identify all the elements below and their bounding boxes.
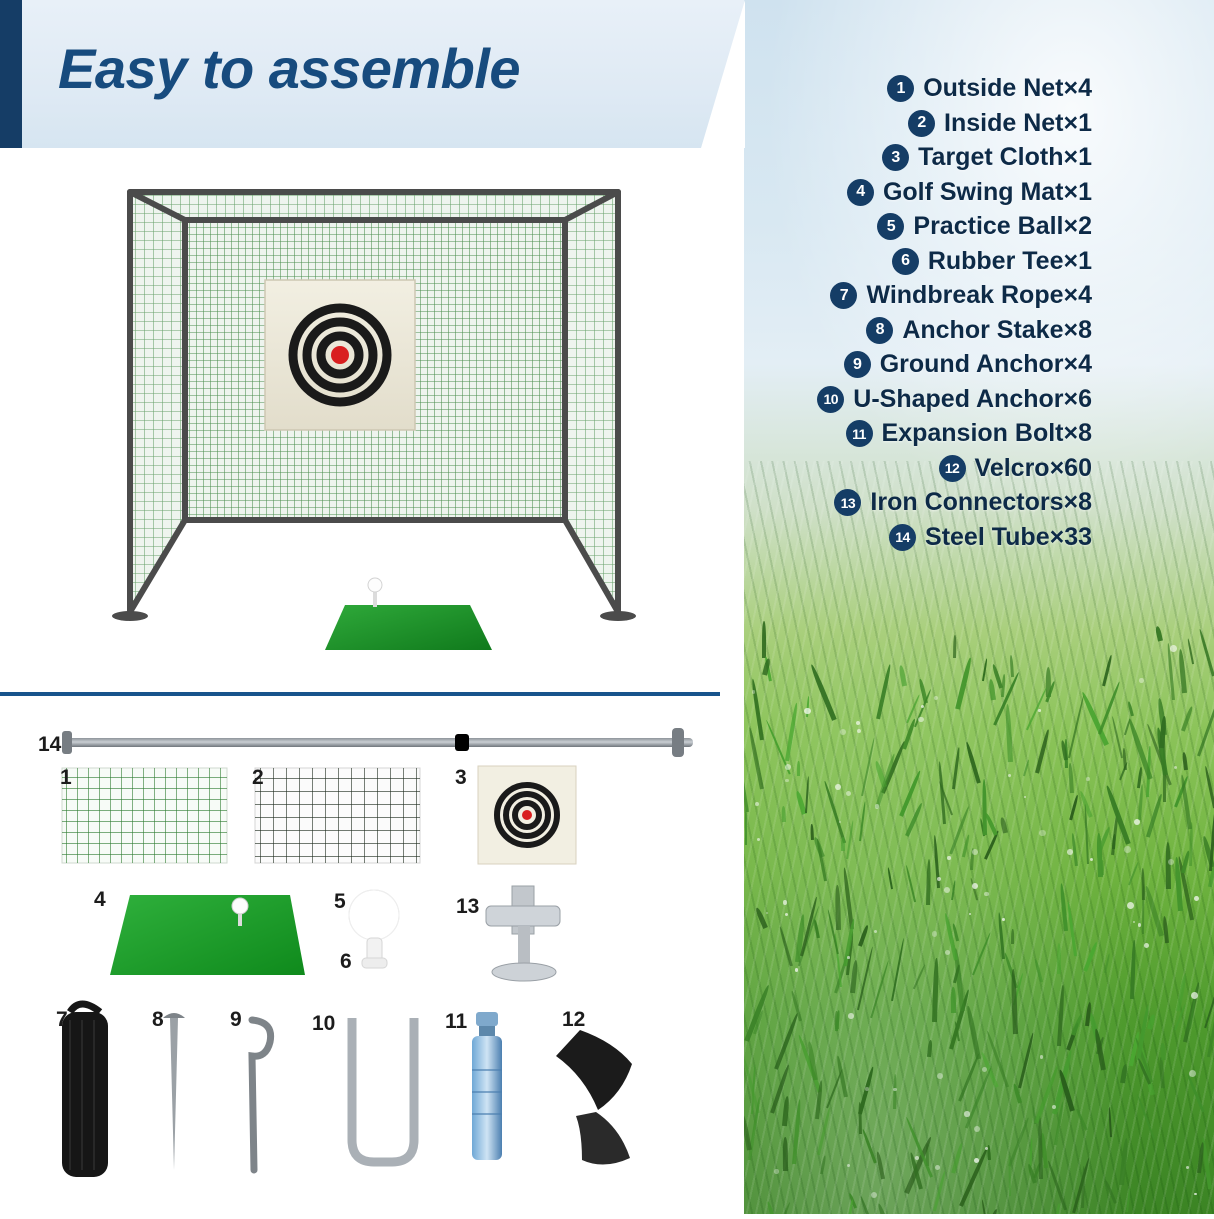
part-outside-net	[62, 768, 227, 863]
part-u-shaped-anchor	[352, 1018, 414, 1162]
dew-drop	[1134, 819, 1140, 825]
dew-drop	[969, 913, 971, 915]
legend-number-badge: 5	[877, 213, 904, 240]
legend-item: 4Golf Swing Mat×1	[742, 178, 1092, 207]
dew-drop	[875, 804, 879, 808]
grass-blade	[951, 987, 956, 1013]
cage-illustration	[0, 150, 744, 690]
legend-item: 7Windbreak Rope×4	[742, 281, 1092, 310]
legend-item-label: U-Shaped Anchor×6	[853, 385, 1092, 414]
dew-drop	[847, 1164, 850, 1167]
part-practice-ball	[349, 890, 399, 940]
legend-item: 11Expansion Bolt×8	[742, 419, 1092, 448]
legend-item: 2Inside Net×1	[742, 109, 1092, 138]
legend-number-badge: 1	[887, 75, 914, 102]
label-iron-connector: 13	[456, 895, 479, 919]
legend-item-label: Windbreak Rope×4	[866, 281, 1092, 310]
legend-item: 8Anchor Stake×8	[742, 316, 1092, 345]
label-practice-ball: 5	[334, 890, 346, 914]
grass-blade	[953, 635, 956, 658]
dew-drop	[835, 784, 841, 790]
parts-grid: 14 1 2 3 4 5 6 13 7 8 9 10 11 12	[0, 700, 744, 1214]
dew-drop	[795, 968, 798, 971]
grass-blade	[797, 761, 800, 776]
left-panel: Easy to assemble	[0, 0, 744, 1214]
part-windbreak-rope	[62, 1004, 108, 1177]
legend-item: 13Iron Connectors×8	[742, 488, 1092, 517]
legend-item-label: Target Cloth×1	[918, 143, 1092, 172]
dew-drop	[1144, 943, 1149, 948]
part-steel-tube	[62, 728, 693, 757]
part-target-cloth	[478, 766, 576, 864]
grass-blade	[810, 824, 813, 841]
part-ground-anchor	[252, 1020, 271, 1170]
dew-drop	[984, 892, 988, 896]
target-rings	[293, 308, 387, 402]
legend-number-badge: 3	[882, 144, 909, 171]
parts-legend-list: 1Outside Net×42Inside Net×13 Target Clot…	[742, 74, 1092, 557]
dew-drop	[1038, 709, 1040, 711]
dew-drop	[757, 838, 760, 841]
label-outside-net: 1	[60, 766, 72, 790]
legend-item: 6Rubber Tee×1	[742, 247, 1092, 276]
label-windbreak-rope: 7	[56, 1008, 68, 1032]
part-anchor-stake	[163, 1013, 185, 1170]
legend-item: 10 U-Shaped Anchor×6	[742, 385, 1092, 414]
label-inside-net: 2	[252, 766, 264, 790]
label-ground-anchor: 9	[230, 1008, 242, 1032]
dew-drop	[752, 690, 755, 693]
dew-drop	[1189, 1070, 1196, 1077]
legend-number-badge: 7	[830, 282, 857, 309]
dew-drop	[865, 1087, 868, 1090]
page-root: Easy to assemble	[0, 0, 1214, 1214]
dew-drop	[918, 717, 923, 722]
legend-item-label: Iron Connectors×8	[870, 488, 1092, 517]
dew-drop	[1186, 1166, 1189, 1169]
accent-bar	[0, 0, 22, 148]
dew-drop	[944, 887, 950, 893]
legend-item-label: Inside Net×1	[944, 109, 1092, 138]
label-velcro: 12	[562, 1008, 585, 1032]
legend-item: 5Practice Ball×2	[742, 212, 1092, 241]
dew-drop	[1040, 1055, 1043, 1058]
section-divider	[0, 692, 720, 696]
dew-drop	[1086, 777, 1090, 781]
part-expansion-bolt	[472, 1012, 502, 1160]
dew-drop	[871, 1192, 877, 1198]
legend-item-label: Steel Tube×33	[925, 523, 1092, 552]
dew-drop	[964, 1111, 969, 1116]
grass-blade	[782, 1137, 787, 1171]
legend-item: 12Velcro×60	[742, 454, 1092, 483]
grass-blade	[834, 885, 840, 930]
dew-drop	[1067, 849, 1073, 855]
hero-illustration	[0, 150, 744, 690]
dew-drop	[804, 708, 810, 714]
dew-drop	[755, 802, 759, 806]
dew-drop	[1133, 921, 1136, 924]
legend-item-label: Ground Anchor×4	[880, 350, 1092, 379]
legend-number-badge: 4	[847, 179, 874, 206]
legend-item-label: Rubber Tee×1	[928, 247, 1092, 276]
dew-drop	[783, 900, 788, 905]
part-rubber-tee	[362, 938, 387, 968]
legend-number-badge: 12	[939, 455, 966, 482]
label-rubber-tee: 6	[340, 950, 352, 974]
legend-number-badge: 11	[846, 420, 873, 447]
dew-drop	[1194, 896, 1199, 901]
parts-illustration	[0, 700, 744, 1214]
dew-drop	[774, 1169, 778, 1173]
page-title: Easy to assemble	[58, 36, 520, 101]
legend-item-label: Golf Swing Mat×1	[883, 178, 1092, 207]
label-steel-tube: 14	[38, 733, 61, 757]
dew-drop	[1191, 992, 1198, 999]
legend-number-badge: 10	[817, 386, 844, 413]
dew-drop	[1127, 902, 1134, 909]
legend-item: 3 Target Cloth×1	[742, 143, 1092, 172]
grass-blade	[762, 621, 766, 658]
grass-blade	[893, 1074, 897, 1109]
grass-blade	[1057, 943, 1061, 974]
dew-drop	[947, 856, 950, 859]
grass-blade	[1011, 929, 1014, 944]
legend-item-label: Expansion Bolt×8	[882, 419, 1092, 448]
label-swing-mat: 4	[94, 888, 106, 912]
dew-drop	[847, 956, 850, 959]
part-swing-mat	[110, 895, 305, 975]
part-inside-net	[255, 768, 420, 863]
dew-drop	[785, 779, 789, 783]
label-anchor-stake: 8	[152, 1008, 164, 1032]
part-iron-connector	[486, 886, 560, 981]
dew-drop	[1194, 1193, 1196, 1195]
legend-number-badge: 14	[889, 524, 916, 551]
label-target-cloth: 3	[455, 766, 467, 790]
part-velcro	[556, 1030, 632, 1165]
legend-item-label: Velcro×60	[975, 454, 1092, 483]
dew-drop	[1139, 678, 1143, 682]
legend-number-badge: 8	[866, 317, 893, 344]
label-u-shaped-anchor: 10	[312, 1012, 335, 1036]
legend-number-badge: 9	[844, 351, 871, 378]
legend-item-label: Anchor Stake×8	[902, 316, 1092, 345]
dew-drop	[1138, 923, 1141, 926]
legend-number-badge: 2	[908, 110, 935, 137]
dew-drop	[893, 1088, 897, 1092]
legend-item: 9Ground Anchor×4	[742, 350, 1092, 379]
legend-item-label: Practice Ball×2	[913, 212, 1092, 241]
dew-drop	[1170, 645, 1177, 652]
label-expansion-bolt: 11	[445, 1010, 467, 1034]
legend-item: 14Steel Tube×33	[742, 523, 1092, 552]
dew-drop	[1039, 830, 1046, 837]
grass-blade	[841, 837, 845, 851]
legend-item-label: Outside Net×4	[923, 74, 1092, 103]
legend-number-badge: 13	[834, 489, 861, 516]
legend-number-badge: 6	[892, 248, 919, 275]
legend-item: 1Outside Net×4	[742, 74, 1092, 103]
dew-drop	[1124, 846, 1131, 853]
